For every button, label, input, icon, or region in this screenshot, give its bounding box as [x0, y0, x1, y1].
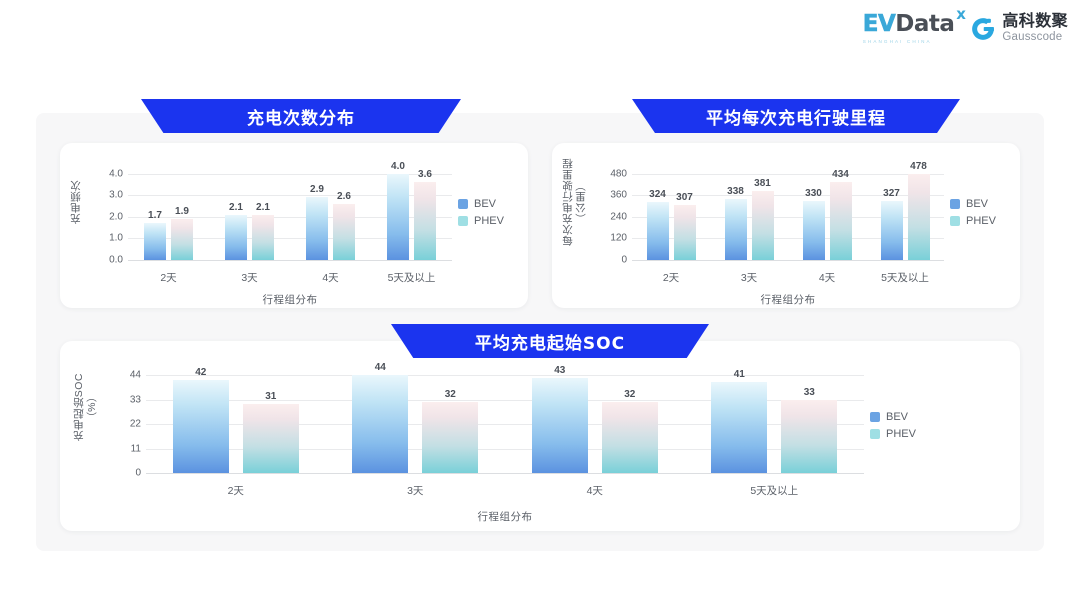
x-axis-tick-label: 3天: [326, 483, 506, 498]
y-axis-tick-label: 1.0: [109, 233, 123, 244]
legend-item-phev[interactable]: PHEV: [458, 215, 528, 227]
bar-phev[interactable]: 3.6: [414, 165, 436, 260]
chart-title-banner-avg-start-soc: 平均充电起始SOC: [391, 324, 709, 358]
legend-label: PHEV: [886, 428, 916, 440]
x-axis-ticks: 2天3天4天5天及以上: [632, 270, 944, 285]
bar-value-label: 32: [445, 389, 456, 400]
bar-fill: [647, 202, 669, 260]
bar-phev[interactable]: 307: [674, 165, 696, 260]
bar-group: 4332: [505, 371, 685, 473]
brand-logo-bar: EVData x SHANGHAI CHINA 高科数聚 Gausscode: [863, 13, 1068, 44]
legend: BEVPHEV: [950, 143, 1020, 308]
bar-fill: [803, 201, 825, 260]
bar-fill: [725, 199, 747, 260]
evdata-tagline: SHANGHAI CHINA: [863, 39, 932, 44]
bar-fill: [908, 174, 930, 260]
x-axis-title: 行程组分布: [128, 292, 452, 307]
bar-fill: [173, 380, 229, 473]
chart-title-banner-avg-distance-per-charge: 平均每次充电行驶里程: [632, 99, 960, 133]
y-axis-tick-label: 480: [610, 168, 627, 179]
bar-phev[interactable]: 434: [830, 165, 852, 260]
bar-value-label: 41: [734, 369, 745, 380]
bar-fill: [752, 191, 774, 260]
y-axis-tick-label: 240: [610, 211, 627, 222]
legend-swatch-bev-icon: [950, 199, 960, 209]
bar-groups: 1.71.92.12.12.92.64.03.6: [128, 165, 452, 260]
y-axis-tick-label: 44: [130, 370, 141, 381]
bar-group: 2.92.6: [290, 165, 371, 260]
chart-title-banner-charging-frequency: 充电次数分布: [141, 99, 461, 133]
bar-bev[interactable]: 2.9: [306, 165, 328, 260]
bar-fill: [306, 197, 328, 260]
gridline: [146, 473, 864, 474]
y-axis-tick-label: 0: [135, 468, 141, 479]
bar-value-label: 434: [832, 169, 849, 180]
slide-root: EVData x SHANGHAI CHINA 高科数聚 Gausscode 充…: [0, 0, 1080, 608]
bar-fill: [830, 182, 852, 260]
evdata-logo: EVData x SHANGHAI CHINA: [863, 13, 955, 44]
x-axis-ticks: 2天3天4天5天及以上: [146, 483, 864, 498]
bar-value-label: 43: [554, 365, 565, 376]
x-axis-ticks: 2天3天4天5天及以上: [128, 270, 452, 285]
gridline: [128, 260, 452, 261]
bar-value-label: 1.7: [148, 210, 162, 221]
bar-group: 4.03.6: [371, 165, 452, 260]
bar-bev[interactable]: 327: [881, 165, 903, 260]
y-axis-ticks: 011223344: [112, 341, 146, 531]
bar-value-label: 2.6: [337, 191, 351, 202]
chart-title-text: 平均每次充电行驶里程: [706, 104, 886, 129]
bar-bev[interactable]: 1.7: [144, 165, 166, 260]
bar-fill: [225, 215, 247, 260]
bar-fill: [144, 223, 166, 260]
bar-value-label: 324: [649, 189, 666, 200]
bar-phev[interactable]: 33: [781, 371, 837, 473]
legend-item-phev[interactable]: PHEV: [870, 428, 1020, 440]
bar-group: 330434: [788, 165, 866, 260]
legend-swatch-bev-icon: [458, 199, 468, 209]
bar-value-label: 2.1: [229, 202, 243, 213]
legend-swatch-bev-icon: [870, 412, 880, 422]
x-axis-tick-label: 4天: [788, 270, 866, 285]
bar-fill: [602, 402, 658, 473]
y-axis-title-container: 充电起始SOC（%）: [60, 341, 112, 531]
y-axis-title: 每次充电行驶里程: [562, 158, 575, 246]
bar-bev[interactable]: 324: [647, 165, 669, 260]
legend-item-bev[interactable]: BEV: [950, 198, 1020, 210]
bar-bev[interactable]: 44: [352, 371, 408, 473]
bar-groups: 4231443243324133: [146, 371, 864, 473]
plot-area: 01122334442314432433241332天3天4天5天及以上行程组分…: [112, 341, 870, 531]
legend-item-phev[interactable]: PHEV: [950, 215, 1020, 227]
bar-group: 4133: [685, 371, 865, 473]
x-axis-tick-label: 4天: [505, 483, 685, 498]
bar-value-label: 307: [676, 192, 693, 203]
bar-group: 2.12.1: [209, 165, 290, 260]
plot-area: 01202403604803243073383813304343274782天3…: [598, 143, 950, 308]
plot-area: 0.01.02.03.04.01.71.92.12.12.92.64.03.62…: [94, 143, 458, 308]
y-axis-tick-label: 0: [621, 255, 627, 266]
x-axis-tick-label: 2天: [128, 270, 209, 285]
y-axis-title: 充电起始SOC: [73, 373, 86, 441]
legend-label: PHEV: [474, 215, 504, 227]
x-axis-tick-label: 3天: [209, 270, 290, 285]
y-axis-unit: （公里）: [575, 180, 588, 224]
evdata-prefix: EV: [863, 11, 896, 37]
bar-phev[interactable]: 478: [908, 165, 930, 260]
chart-card-avg-distance-per-charge: 每次充电行驶里程（公里）0120240360480324307338381330…: [552, 143, 1020, 308]
bar-fill: [252, 215, 274, 260]
x-axis-tick-label: 2天: [632, 270, 710, 285]
y-axis-tick-label: 0.0: [109, 255, 123, 266]
gausscode-text: 高科数聚 Gausscode: [1002, 14, 1068, 44]
evdata-wordmark: EVData x: [863, 13, 955, 36]
bar-value-label: 31: [265, 391, 276, 402]
bar-value-label: 381: [754, 178, 771, 189]
bar-phev[interactable]: 32: [602, 371, 658, 473]
bar-phev[interactable]: 2.6: [333, 165, 355, 260]
y-axis-tick-label: 4.0: [109, 168, 123, 179]
x-axis-tick-label: 5天及以上: [685, 483, 865, 498]
x-axis-tick-label: 5天及以上: [866, 270, 944, 285]
legend-label: BEV: [474, 198, 496, 210]
y-axis-tick-label: 3.0: [109, 190, 123, 201]
y-axis-tick-label: 120: [610, 233, 627, 244]
bar-value-label: 4.0: [391, 161, 405, 172]
y-axis-title-container: 每次充电行驶里程（公里）: [552, 143, 598, 308]
bar-fill: [881, 201, 903, 260]
bar-groups: 324307338381330434327478: [632, 165, 944, 260]
bar-value-label: 327: [883, 188, 900, 199]
y-axis-unit: （%）: [86, 391, 99, 423]
bar-group: 327478: [866, 165, 944, 260]
bar-fill: [674, 205, 696, 260]
bar-phev[interactable]: 2.1: [252, 165, 274, 260]
bar-group: 1.71.9: [128, 165, 209, 260]
chart-charging-frequency: 充电频次0.01.02.03.04.01.71.92.12.12.92.64.0…: [60, 143, 528, 308]
legend-label: BEV: [886, 411, 908, 423]
y-axis-tick-label: 11: [131, 443, 141, 454]
legend: BEVPHEV: [458, 143, 528, 308]
bar-value-label: 330: [805, 188, 822, 199]
y-axis-tick-label: 2.0: [109, 211, 123, 222]
legend-swatch-phev-icon: [950, 216, 960, 226]
bar-fill: [532, 378, 588, 473]
bar-bev[interactable]: 43: [532, 371, 588, 473]
bar-value-label: 2.9: [310, 184, 324, 195]
gausscode-logo: 高科数聚 Gausscode: [970, 14, 1068, 44]
bar-value-label: 32: [624, 389, 635, 400]
gausscode-c-icon: [970, 16, 996, 42]
bar-fill: [243, 404, 299, 473]
y-axis-title: 充电频次: [70, 180, 83, 224]
legend-item-bev[interactable]: BEV: [458, 198, 528, 210]
bar-bev[interactable]: 2.1: [225, 165, 247, 260]
bar-fill: [171, 219, 193, 260]
bar-phev[interactable]: 1.9: [171, 165, 193, 260]
chart-title-text: 充电次数分布: [247, 104, 355, 129]
y-axis-tick-label: 22: [130, 419, 141, 430]
y-axis-tick-label: 33: [130, 394, 141, 405]
y-axis-tick-label: 360: [610, 190, 627, 201]
legend-swatch-phev-icon: [458, 216, 468, 226]
x-axis-tick-label: 3天: [710, 270, 788, 285]
gausscode-en-name: Gausscode: [1002, 32, 1068, 44]
bar-fill: [781, 400, 837, 473]
gridline: [632, 260, 944, 261]
bar-fill: [352, 375, 408, 473]
bar-fill: [422, 402, 478, 473]
bar-value-label: 42: [195, 367, 206, 378]
evdata-suffix: Data: [895, 11, 954, 37]
chart-avg-distance-per-charge: 每次充电行驶里程（公里）0120240360480324307338381330…: [552, 143, 1020, 308]
bar-bev[interactable]: 4.0: [387, 165, 409, 260]
chart-card-charging-frequency: 充电频次0.01.02.03.04.01.71.92.12.12.92.64.0…: [60, 143, 528, 308]
bar-value-label: 3.6: [418, 169, 432, 180]
legend-label: PHEV: [966, 215, 996, 227]
bar-value-label: 2.1: [256, 202, 270, 213]
x-axis-title: 行程组分布: [146, 509, 864, 524]
x-axis-tick-label: 5天及以上: [371, 270, 452, 285]
bar-fill: [711, 382, 767, 473]
chart-title-text: 平均充电起始SOC: [475, 329, 625, 354]
legend-item-bev[interactable]: BEV: [870, 411, 1020, 423]
bar-group: 4432: [326, 371, 506, 473]
bar-value-label: 1.9: [175, 206, 189, 217]
legend: BEVPHEV: [870, 341, 1020, 531]
bar-group: 4231: [146, 371, 326, 473]
x-axis-tick-label: 2天: [146, 483, 326, 498]
legend-label: BEV: [966, 198, 988, 210]
bar-bev[interactable]: 41: [711, 371, 767, 473]
bar-bev[interactable]: 42: [173, 371, 229, 473]
bar-fill: [387, 174, 409, 260]
legend-swatch-phev-icon: [870, 429, 880, 439]
bar-phev[interactable]: 31: [243, 371, 299, 473]
bar-group: 338381: [710, 165, 788, 260]
y-axis-title-container: 充电频次: [60, 143, 94, 308]
bar-fill: [333, 204, 355, 260]
bar-phev[interactable]: 32: [422, 371, 478, 473]
chart-card-avg-start-soc: 充电起始SOC（%）01122334442314432433241332天3天4…: [60, 341, 1020, 531]
chart-avg-start-soc: 充电起始SOC（%）01122334442314432433241332天3天4…: [60, 341, 1020, 531]
y-axis-ticks: 0.01.02.03.04.0: [94, 143, 128, 308]
bar-value-label: 478: [910, 161, 927, 172]
x-axis-title: 行程组分布: [632, 292, 944, 307]
bar-value-label: 33: [804, 387, 815, 398]
bar-value-label: 338: [727, 186, 744, 197]
gausscode-cn-name: 高科数聚: [1002, 14, 1068, 30]
bar-bev[interactable]: 330: [803, 165, 825, 260]
bar-value-label: 44: [375, 362, 386, 373]
y-axis-ticks: 0120240360480: [598, 143, 632, 308]
x-axis-tick-label: 4天: [290, 270, 371, 285]
bar-phev[interactable]: 381: [752, 165, 774, 260]
evdata-x-icon: x: [956, 7, 965, 22]
bar-fill: [414, 182, 436, 260]
bar-group: 324307: [632, 165, 710, 260]
bar-bev[interactable]: 338: [725, 165, 747, 260]
